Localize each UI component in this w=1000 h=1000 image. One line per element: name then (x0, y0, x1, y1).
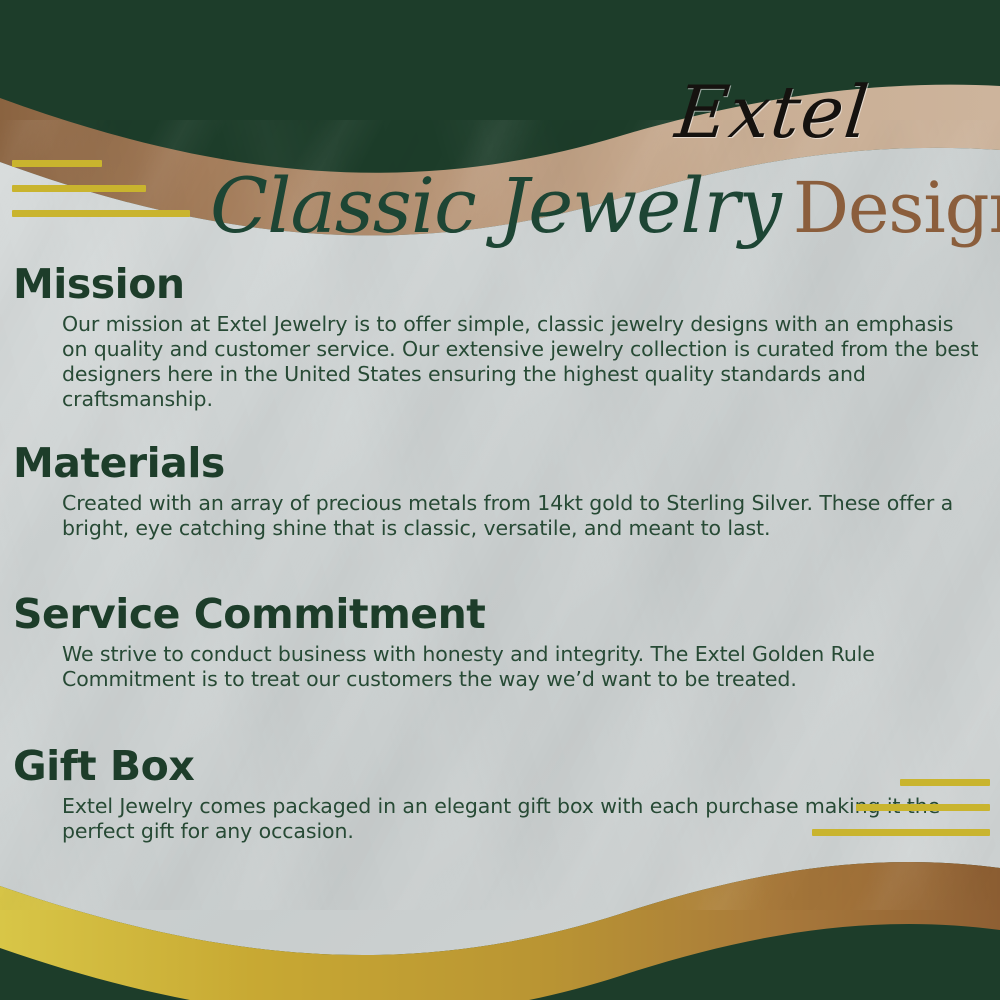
section-body-mission: Our mission at Extel Jewelry is to offer… (62, 312, 982, 412)
poster-canvas: Extel Classic JewelryDesign Mission Our … (0, 0, 1000, 1000)
section-service-commitment: Service Commitment We strive to conduct … (0, 588, 1000, 692)
section-heading-mission: Mission (13, 258, 1000, 310)
gold-rule (812, 829, 990, 836)
gold-rule (12, 185, 146, 192)
section-body-service-commitment: We strive to conduct business with hones… (62, 642, 982, 692)
gold-rule (12, 210, 190, 217)
decorative-rules-top (12, 160, 190, 217)
section-materials: Materials Created with an array of preci… (0, 437, 1000, 541)
section-heading-service-commitment: Service Commitment (13, 588, 1000, 640)
page-title-secondary: Design (793, 167, 1000, 249)
gold-rule (900, 779, 990, 786)
page-title-primary: Classic Jewelry (210, 161, 781, 250)
gold-rule (12, 160, 102, 167)
section-body-materials: Created with an array of precious metals… (62, 491, 982, 541)
decorative-rules-bottom (812, 779, 990, 836)
section-heading-materials: Materials (13, 437, 1000, 489)
brand-logo: Extel (596, 76, 949, 148)
page-title: Classic JewelryDesign (210, 158, 980, 254)
gold-rule (856, 804, 990, 811)
section-mission: Mission Our mission at Extel Jewelry is … (0, 258, 1000, 412)
